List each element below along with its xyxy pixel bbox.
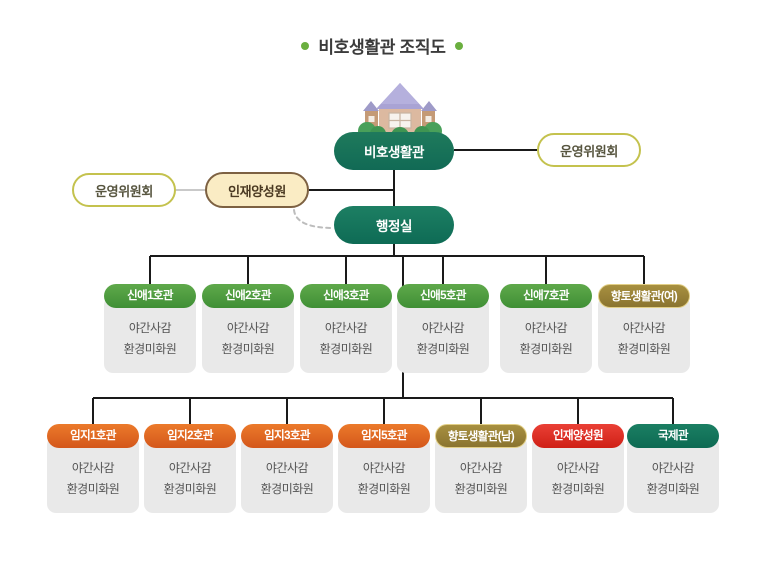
staff-night: 야간사감: [397, 318, 489, 339]
staff-cleaning: 환경미화원: [104, 339, 196, 360]
staff-night: 야간사감: [338, 458, 430, 479]
dept-card[interactable]: 신애1호관 야간사감 환경미화원: [104, 284, 196, 373]
staff-cleaning: 환경미화원: [532, 479, 624, 500]
dept-card[interactable]: 인재양성원 야간사감 환경미화원: [532, 424, 624, 513]
dept-card-header: 신애5호관: [397, 284, 489, 308]
staff-cleaning: 환경미화원: [47, 479, 139, 500]
dept-card[interactable]: 신애7호관 야간사감 환경미화원: [500, 284, 592, 373]
dept-card[interactable]: 임지3호관 야간사감 환경미화원: [241, 424, 333, 513]
dept-card-header: 임지1호관: [47, 424, 139, 448]
staff-cleaning: 환경미화원: [598, 339, 690, 360]
dept-card[interactable]: 신애2호관 야간사감 환경미화원: [202, 284, 294, 373]
node-committee-left-label: 운영위원회: [95, 181, 153, 200]
dept-card[interactable]: 신애5호관 야간사감 환경미화원: [397, 284, 489, 373]
dept-card-header: 임지3호관: [241, 424, 333, 448]
staff-night: 야간사감: [500, 318, 592, 339]
node-committee-right-label: 운영위원회: [560, 141, 618, 160]
dept-card[interactable]: 국제관 야간사감 환경미화원: [627, 424, 719, 513]
staff-cleaning: 환경미화원: [397, 339, 489, 360]
staff-cleaning: 환경미화원: [627, 479, 719, 500]
staff-night: 야간사감: [104, 318, 196, 339]
node-admin-office[interactable]: 행정실: [334, 206, 454, 244]
org-chart: 비호생활관 조직도 비호생활관 운영위원회 운영위원회: [0, 0, 764, 562]
dept-card-header: 신애1호관: [104, 284, 196, 308]
node-talent-center-label: 인재양성원: [228, 181, 286, 200]
dept-card[interactable]: 향토생활관(남) 야간사감 환경미화원: [435, 424, 527, 513]
dept-card-header: 인재양성원: [532, 424, 624, 448]
dept-card-header: 임지5호관: [338, 424, 430, 448]
node-admin-office-label: 행정실: [376, 215, 412, 235]
staff-night: 야간사감: [202, 318, 294, 339]
dept-card-header: 향토생활관(여): [598, 284, 690, 308]
dept-card-header: 신애3호관: [300, 284, 392, 308]
dept-card[interactable]: 임지5호관 야간사감 환경미화원: [338, 424, 430, 513]
staff-cleaning: 환경미화원: [144, 479, 236, 500]
dept-card[interactable]: 신애3호관 야간사감 환경미화원: [300, 284, 392, 373]
dept-card-header: 신애2호관: [202, 284, 294, 308]
page-title: 비호생활관 조직도: [0, 33, 764, 58]
staff-night: 야간사감: [435, 458, 527, 479]
staff-cleaning: 환경미화원: [202, 339, 294, 360]
staff-night: 야간사감: [300, 318, 392, 339]
page-title-text: 비호생활관 조직도: [318, 38, 445, 57]
staff-cleaning: 환경미화원: [241, 479, 333, 500]
staff-night: 야간사감: [47, 458, 139, 479]
staff-cleaning: 환경미화원: [435, 479, 527, 500]
staff-cleaning: 환경미화원: [338, 479, 430, 500]
staff-cleaning: 환경미화원: [500, 339, 592, 360]
staff-night: 야간사감: [598, 318, 690, 339]
staff-night: 야간사감: [532, 458, 624, 479]
dept-card[interactable]: 임지2호관 야간사감 환경미화원: [144, 424, 236, 513]
node-committee-left[interactable]: 운영위원회: [72, 173, 176, 207]
dept-card[interactable]: 임지1호관 야간사감 환경미화원: [47, 424, 139, 513]
dotted-link-talent-to-admin: [294, 210, 334, 228]
dept-card-header: 임지2호관: [144, 424, 236, 448]
bullet-dot-icon: [301, 42, 309, 50]
staff-night: 야간사감: [627, 458, 719, 479]
node-talent-center[interactable]: 인재양성원: [205, 172, 309, 208]
staff-night: 야간사감: [241, 458, 333, 479]
dept-card[interactable]: 향토생활관(여) 야간사감 환경미화원: [598, 284, 690, 373]
dept-card-header: 향토생활관(남): [435, 424, 527, 448]
staff-cleaning: 환경미화원: [300, 339, 392, 360]
node-committee-right[interactable]: 운영위원회: [537, 133, 641, 167]
dept-card-header: 신애7호관: [500, 284, 592, 308]
node-root[interactable]: 비호생활관: [334, 132, 454, 170]
node-root-label: 비호생활관: [364, 141, 424, 161]
bullet-dot-icon: [455, 42, 463, 50]
dept-card-header: 국제관: [627, 424, 719, 448]
staff-night: 야간사감: [144, 458, 236, 479]
